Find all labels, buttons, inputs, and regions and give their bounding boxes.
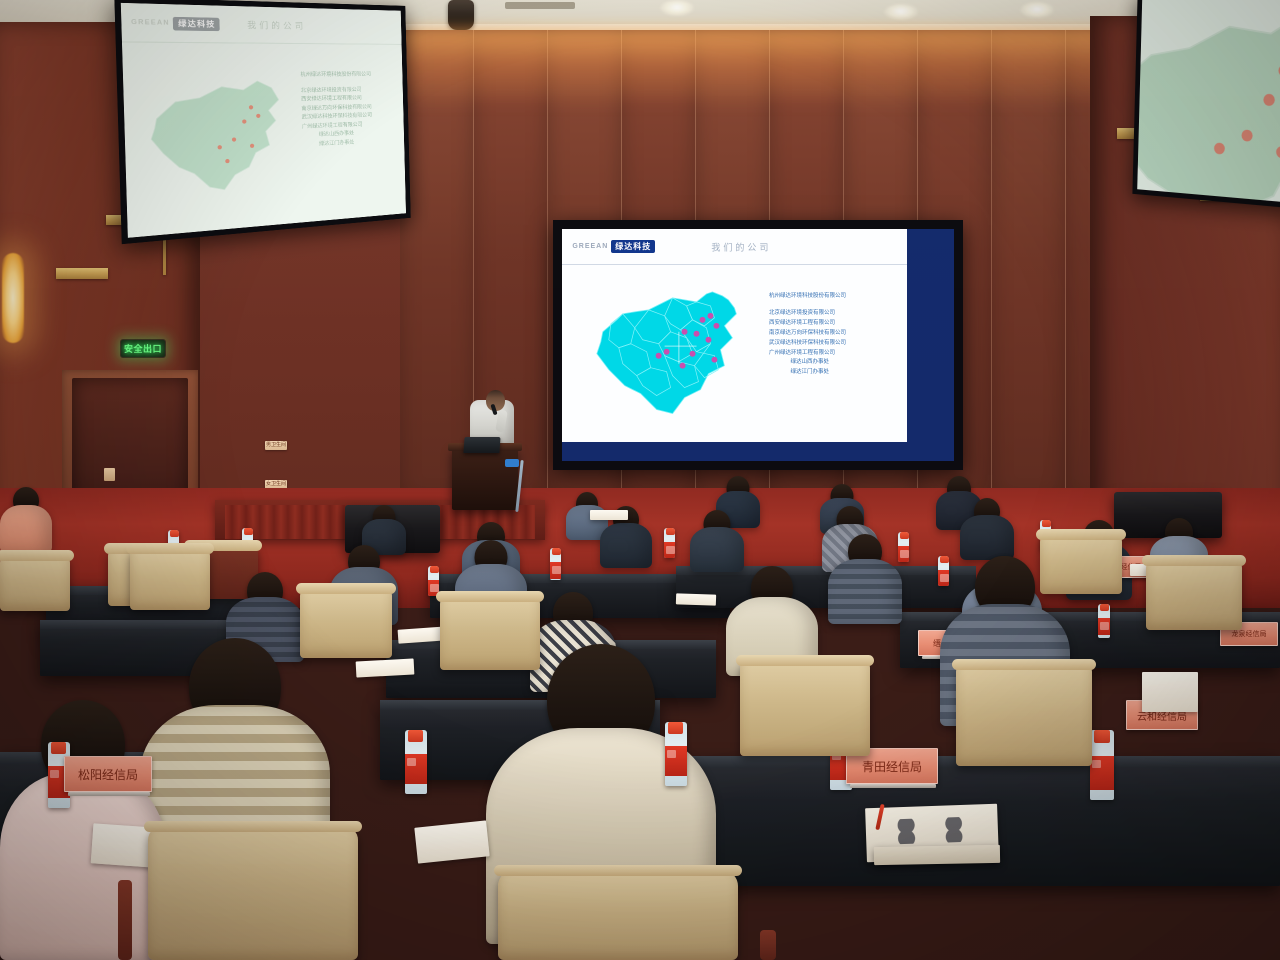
slide-header: GREEAN 绿达科技 我们的公司 <box>562 229 907 265</box>
logo-mark: GREEAN <box>572 243 608 250</box>
bottle-cap <box>1042 520 1051 527</box>
gold-accent-strip <box>56 268 108 279</box>
recessed-downlight <box>884 4 918 20</box>
bottle-cap <box>1100 604 1109 611</box>
bottle-cap <box>552 548 561 555</box>
slide-title: 我们的公司 <box>711 240 771 253</box>
attendee-torso <box>600 523 652 568</box>
slide-office: 绿达江门办事处 <box>790 370 903 376</box>
recessed-downlight <box>1020 2 1054 18</box>
placard-stand <box>68 792 150 796</box>
slide-header: GREEAN 绿达科技 我们的公司 <box>121 3 402 45</box>
wall-panel <box>400 30 474 500</box>
water-bottle <box>664 528 675 558</box>
exit-sign: 安全出口 <box>120 339 166 358</box>
recessed-downlight <box>660 0 694 16</box>
slide-office: 绿达山西办事处 <box>319 130 402 139</box>
company-logo: GREEAN 绿达科技 <box>131 16 220 31</box>
conference-table <box>676 566 976 608</box>
attendee-torso <box>828 559 902 624</box>
slide-subsidiary: 南京绿达万向环保科技有限公司 <box>769 331 904 337</box>
conference-chair[interactable] <box>130 548 210 610</box>
door-handle-plate <box>104 468 115 481</box>
attendee-torso <box>0 505 52 553</box>
conference-chair[interactable] <box>0 555 70 611</box>
attendee <box>690 510 744 572</box>
chair-armrest <box>760 930 776 960</box>
slide-body: 杭州绿达环境科技股份有限公司 北京绿达环境投资有限公司 西安绿达环境工程有限公司… <box>122 43 406 238</box>
attendee <box>828 534 902 624</box>
logo-mark: GREEAN <box>131 19 170 27</box>
slide-subsidiary: 南京绿达万向环保科技有限公司 <box>301 104 401 112</box>
speaker-podium <box>452 448 518 510</box>
slide-subsidiary: 武汉绿达科技环保科技有限公司 <box>769 341 904 347</box>
slide-text-block: 杭州绿达环境科技股份有限公司 北京绿达环境投资有限公司 西安绿达环境工程有限公司… <box>300 72 401 151</box>
water-bottle <box>550 548 561 580</box>
bottle-cap <box>244 528 253 535</box>
booklet-cover-art <box>889 817 972 845</box>
slide-subsidiary: 广州绿达环境工程有限公司 <box>769 351 904 357</box>
bottle-cap <box>1094 730 1110 743</box>
logo-badge: 绿达科技 <box>173 16 220 30</box>
slide-subsidiary: 西安绿达环境工程有限公司 <box>769 321 904 327</box>
conference-chair[interactable] <box>740 660 870 756</box>
slide-office: 绿达山西办事处 <box>790 360 903 366</box>
handout-paper <box>356 658 415 677</box>
wall-sconce-lamp <box>2 253 24 343</box>
placard-stand <box>850 784 936 788</box>
bottle-cap <box>408 730 423 742</box>
exit-sign-label: 安全出口 <box>124 342 162 355</box>
bottle-label <box>405 754 427 784</box>
water-bottle <box>665 722 687 786</box>
handout-paper <box>414 820 489 863</box>
wall-panel <box>992 30 1066 500</box>
slide-subsidiary: 西安绿达环境工程有限公司 <box>301 95 401 103</box>
water-bottle <box>1090 730 1114 800</box>
bottle-cap <box>170 530 179 537</box>
bottle-cap <box>666 528 675 535</box>
air-vent <box>505 2 575 9</box>
slide-body: 杭州绿达环境科技股份有限公司 北京绿达环境投资有限公司 西安绿达环境工程有限公司… <box>562 265 907 442</box>
company-logo: GREEAN 绿达科技 <box>572 240 655 253</box>
bottle-label <box>665 746 687 776</box>
right-projection-screen <box>1132 0 1280 209</box>
document-booklet <box>874 845 1000 865</box>
bottle-label <box>664 542 675 558</box>
bottle-cap <box>51 742 66 754</box>
conference-chair[interactable] <box>498 870 738 960</box>
handout-paper <box>590 510 628 520</box>
bottle-label <box>1090 756 1114 790</box>
podium-device <box>505 459 519 467</box>
slide-left: GREEAN 绿达科技 我们的公司 <box>121 3 406 238</box>
slide-headline: 杭州绿达环境科技股份有限公司 <box>769 294 904 300</box>
slide-title: 我们的公司 <box>247 19 306 32</box>
conference-hall-photo: 安全出口 男卫生间 女卫生间 <box>0 0 1280 960</box>
slide-subsidiary: 北京绿达环境投资有限公司 <box>301 87 401 94</box>
wall-sign: 男卫生间 <box>265 441 287 450</box>
handout-paper <box>1142 672 1198 712</box>
water-bottle <box>1098 604 1110 638</box>
china-map <box>1137 0 1280 203</box>
slide-main: GREEAN 绿达科技 我们的公司 <box>562 229 907 442</box>
main-screen-surface: GREEAN 绿达科技 我们的公司 <box>562 229 954 461</box>
attendee <box>960 498 1014 560</box>
left-screen-surface: GREEAN 绿达科技 我们的公司 <box>121 3 406 238</box>
left-projection-screen: GREEAN 绿达科技 我们的公司 <box>114 0 410 244</box>
bottle-cap <box>430 566 439 573</box>
conference-chair[interactable] <box>1146 560 1242 630</box>
slide-headline: 杭州绿达环境科技股份有限公司 <box>300 72 400 79</box>
presenter-laptop <box>463 437 500 453</box>
conference-chair[interactable] <box>956 664 1092 766</box>
chair-armrest <box>118 880 132 960</box>
slide-subsidiary: 北京绿达环境投资有限公司 <box>769 311 904 317</box>
right-screen-surface <box>1137 0 1280 203</box>
slide-text-block: 杭州绿达环境科技股份有限公司 北京绿达环境投资有限公司 西安绿达环境工程有限公司… <box>769 294 904 380</box>
bottle-label <box>1098 618 1110 635</box>
bottle-label <box>550 562 561 579</box>
attendee <box>0 487 52 553</box>
slide-subsidiary: 广州绿达环境工程有限公司 <box>302 121 401 130</box>
logo-badge: 绿达科技 <box>611 240 655 253</box>
china-map <box>135 51 304 225</box>
conference-chair[interactable] <box>148 826 358 960</box>
attendee-torso <box>960 515 1014 560</box>
china-map <box>576 272 769 431</box>
bottle-cap <box>668 722 683 734</box>
ceiling-speaker <box>448 0 474 30</box>
handout-paper <box>676 593 716 605</box>
water-bottle <box>405 730 427 794</box>
table-top <box>40 620 250 629</box>
name-placard: 松阳经信局 <box>64 756 152 792</box>
slide-subsidiary: 武汉绿达科技环保科技有限公司 <box>302 112 402 121</box>
main-projection-screen: GREEAN 绿达科技 我们的公司 <box>553 220 963 470</box>
slide-office: 绿达江门办事处 <box>319 138 402 147</box>
